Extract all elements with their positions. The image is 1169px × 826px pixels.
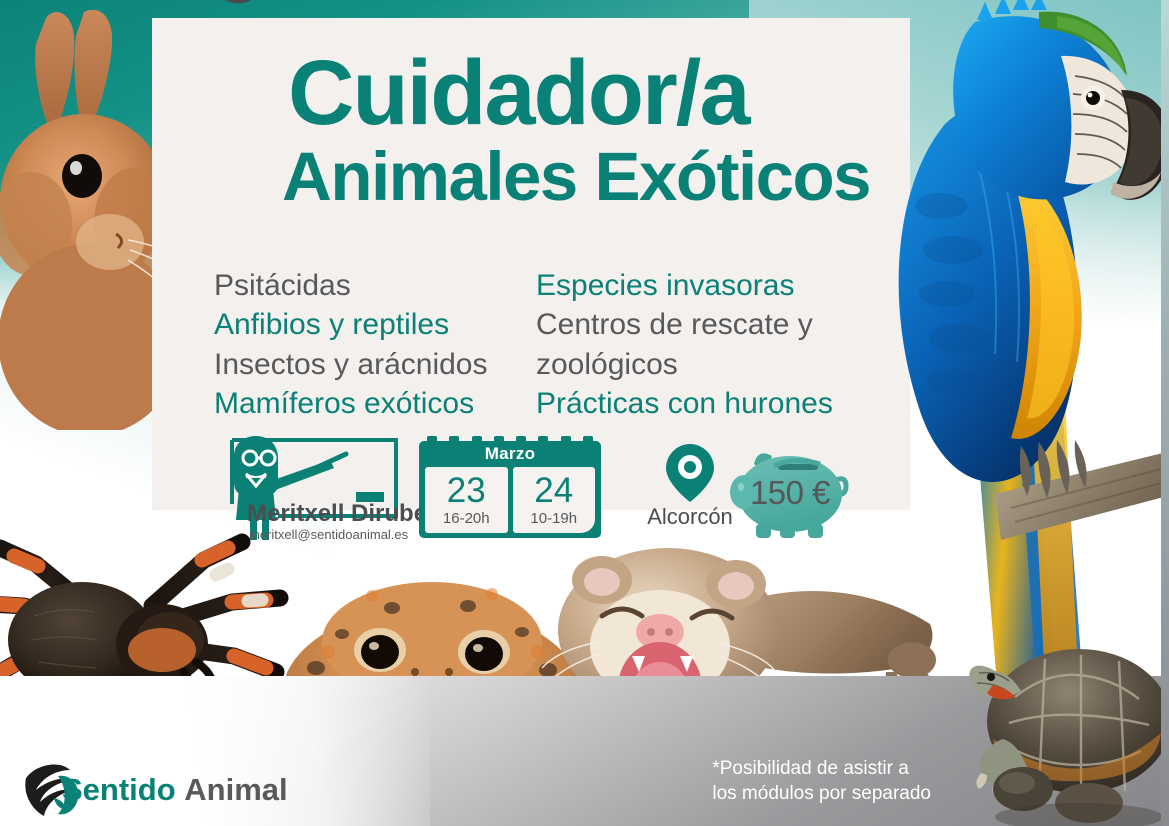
topic-item: Insectos y arácnidos xyxy=(214,345,487,384)
map-pin-icon xyxy=(641,442,739,500)
calendar-day-cell: 23 16-20h xyxy=(425,467,508,533)
location-label: Alcorcón xyxy=(641,504,739,530)
calendar-month: Marzo xyxy=(419,444,601,464)
calendar-day-cell: 24 10-19h xyxy=(513,467,596,533)
topic-item: Anfibios y reptiles xyxy=(214,305,487,344)
topics-column-right: Especies invasoras Centros de rescate y … xyxy=(536,266,833,423)
calendar-day-time: 10-19h xyxy=(530,510,577,527)
topic-item: Centros de rescate y xyxy=(536,305,833,344)
kicker-curso: Curso xyxy=(206,0,272,46)
turtle-photo xyxy=(969,611,1169,826)
poster-root: Curso Cuidador/a Animales Exóticos Psitá… xyxy=(0,0,1169,826)
logo-wordmark: Sentido Animal xyxy=(62,772,288,808)
footnote-line-1: *Posibilidad de asistir a xyxy=(712,756,931,781)
page-subtitle: Animales Exóticos xyxy=(282,142,870,211)
background-right-edge xyxy=(1161,0,1169,826)
topic-item: Psitácidas xyxy=(214,266,487,305)
topic-item: Mamíferos exóticos xyxy=(214,384,487,423)
price-block: 150 € xyxy=(726,440,854,540)
topics-column-left: Psitácidas Anfibios y reptiles Insectos … xyxy=(214,266,487,423)
location-block: Alcorcón xyxy=(641,442,739,530)
topic-item: Prácticas con hurones xyxy=(536,384,833,423)
price-amount: 150 € xyxy=(726,474,854,512)
logo-word-sentido: Sentido xyxy=(62,772,176,807)
logo-word-animal: Animal xyxy=(184,772,287,807)
page-title: Cuidador/a xyxy=(288,48,748,138)
footnote-line-2: los módulos por separado xyxy=(712,781,931,806)
topic-item: Especies invasoras xyxy=(536,266,833,305)
calendar-day-time: 16-20h xyxy=(443,510,490,527)
footnote: *Posibilidad de asistir a los módulos po… xyxy=(712,756,931,806)
calendar-widget: Marzo 23 16-20h 24 10-19h xyxy=(419,441,601,538)
calendar-day-number: 23 xyxy=(447,473,486,508)
topic-item: zoológicos xyxy=(536,345,833,384)
calendar-day-number: 24 xyxy=(534,473,573,508)
